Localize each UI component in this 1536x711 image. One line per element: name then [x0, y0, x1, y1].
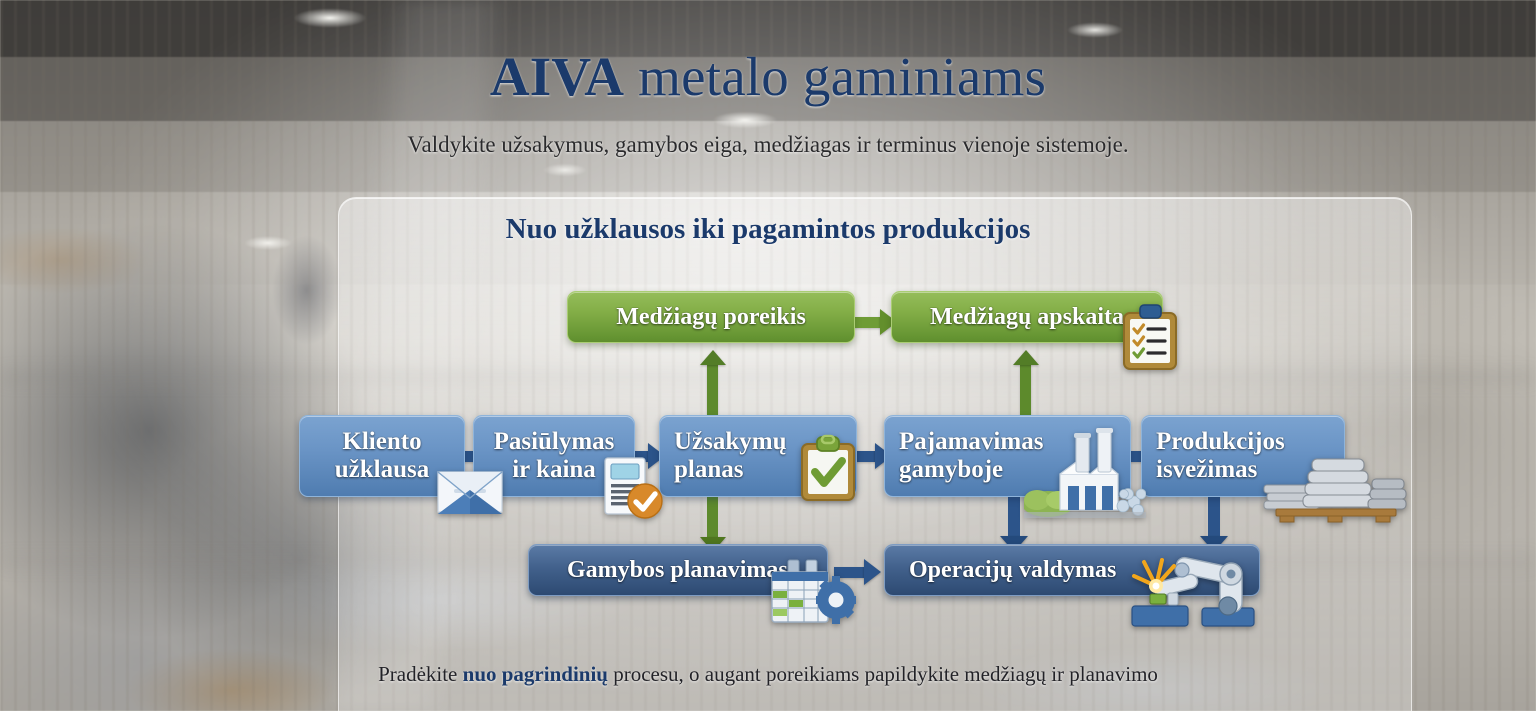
arrow-orders-to-planning — [700, 492, 726, 552]
footer-note-prefix: Pradėkite — [378, 662, 463, 686]
arrow-receipt-to-accounting — [1013, 350, 1039, 415]
arrow-shipout-down — [1200, 492, 1228, 552]
factory-icon — [1024, 428, 1146, 518]
welding-robot-icon — [1124, 544, 1262, 630]
gantt-gear-icon — [766, 558, 858, 630]
node-materials-demand[interactable]: Medžiagų poreikis — [567, 291, 855, 343]
infographic-canvas: AIVA metalo gaminiams Valdykite užsakymu… — [0, 0, 1536, 711]
flow-panel-heading: Nuo užklausos iki pagamintos produkcijos — [0, 213, 1536, 246]
clipboard-check-icon — [798, 434, 858, 504]
footer-note-emphasis: nuo pagrindinių — [463, 662, 608, 686]
metal-stack-pallet-icon — [1256, 455, 1414, 523]
checklist-clipboard-icon — [1119, 301, 1181, 373]
footer-note: Pradėkite nuo pagrindinių procesu, o aug… — [0, 662, 1536, 687]
invoice-check-icon — [601, 455, 665, 521]
page-title-rest: metalo gaminiams — [624, 46, 1046, 107]
node-materials-demand-label: Medžiagų poreikis — [616, 304, 806, 331]
arrow-orders-to-demand — [700, 350, 726, 415]
node-materials-accounting-label: Medžiagų apskaita — [930, 304, 1124, 331]
node-client-request-label: Kliento užklausa — [310, 428, 454, 484]
brand-name: AIVA — [490, 46, 624, 107]
node-operations-management-label: Operacijų valdymas — [909, 557, 1116, 584]
node-production-planning-label: Gamybos planavimas — [567, 557, 788, 584]
page-subtitle: Valdykite užsakymus, gamybos eiga, medži… — [0, 132, 1536, 158]
footer-note-suffix: procesu, o augant poreikiams papildykite… — [608, 662, 1158, 686]
page-title: AIVA metalo gaminiams — [0, 48, 1536, 106]
envelope-icon — [434, 462, 506, 518]
